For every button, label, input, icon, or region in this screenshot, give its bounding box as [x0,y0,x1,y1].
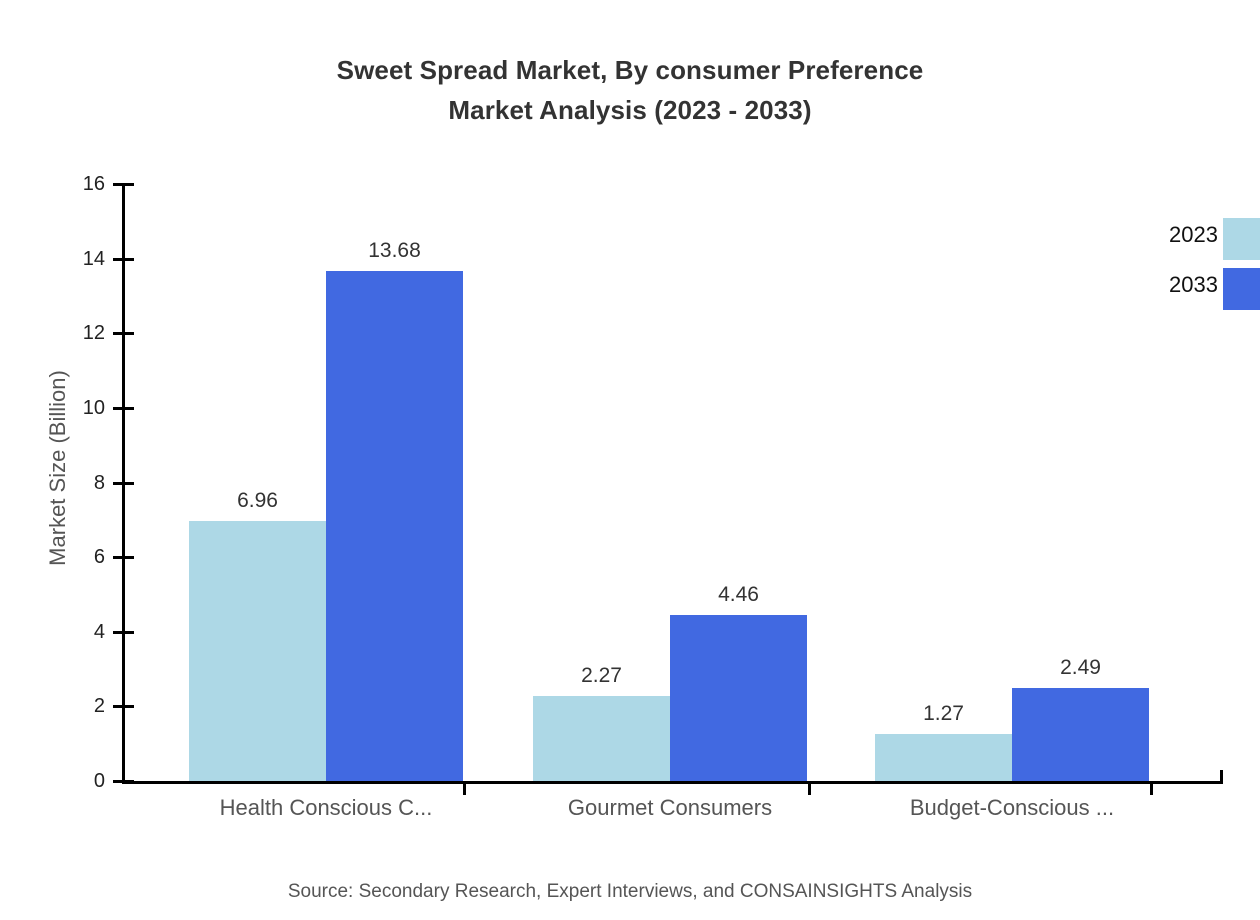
chart-title-line-2: Market Analysis (2023 - 2033) [0,90,1260,130]
bar-value-label: 1.27 [875,702,1012,726]
bar-value-label: 13.68 [326,239,463,263]
legend-color-swatch [1223,268,1260,310]
legend-color-swatch [1223,218,1260,260]
chart-title-line-1: Sweet Spread Market, By consumer Prefere… [0,50,1260,90]
bar-chart-figure: Sweet Spread Market, By consumer Prefere… [0,0,1260,920]
x-axis-category-label-1: Gourmet Consumers [470,793,870,823]
source-note: Source: Secondary Research, Expert Inter… [0,878,1260,906]
bar-2033-1[interactable] [670,615,807,781]
y-axis-tick-label: 16 [0,171,105,197]
x-axis-category-label-2: Budget-Conscious ... [812,793,1212,823]
plot-area: 6.962.271.2713.684.462.49 [122,184,1222,781]
bar-value-label: 6.96 [189,489,326,513]
y-axis-tick-label: 6 [0,544,105,570]
bar-2023-2[interactable] [875,734,1012,781]
bar-2033-0[interactable] [326,271,463,781]
legend-item-2033[interactable]: 2033 [1100,264,1260,314]
chart-legend[interactable]: 20232033 [1100,214,1260,314]
bar-value-label: 2.27 [533,664,670,688]
x-axis-spine [122,781,1222,784]
y-axis-title: Market Size (Billion) [45,188,71,748]
chart-title: Sweet Spread Market, By consumer Prefere… [0,50,1260,130]
y-axis-tick-label: 14 [0,246,105,272]
bar-2023-0[interactable] [189,521,326,781]
x-axis-category-label-0: Health Conscious C... [126,793,526,823]
y-axis-tick-label: 4 [0,619,105,645]
bar-2023-1[interactable] [533,696,670,781]
y-axis-tick-label: 8 [0,470,105,496]
legend-item-2023[interactable]: 2023 [1100,214,1260,264]
bar-value-label: 4.46 [670,583,807,607]
y-axis-tick-label: 12 [0,320,105,346]
y-axis-tick-label: 10 [0,395,105,421]
bar-2033-2[interactable] [1012,688,1149,781]
legend-label: 2033 [1169,271,1218,299]
y-axis-tick-label: 0 [0,768,105,794]
y-axis-tick-label: 2 [0,693,105,719]
bar-value-label: 2.49 [1012,656,1149,680]
legend-label: 2023 [1169,221,1218,249]
